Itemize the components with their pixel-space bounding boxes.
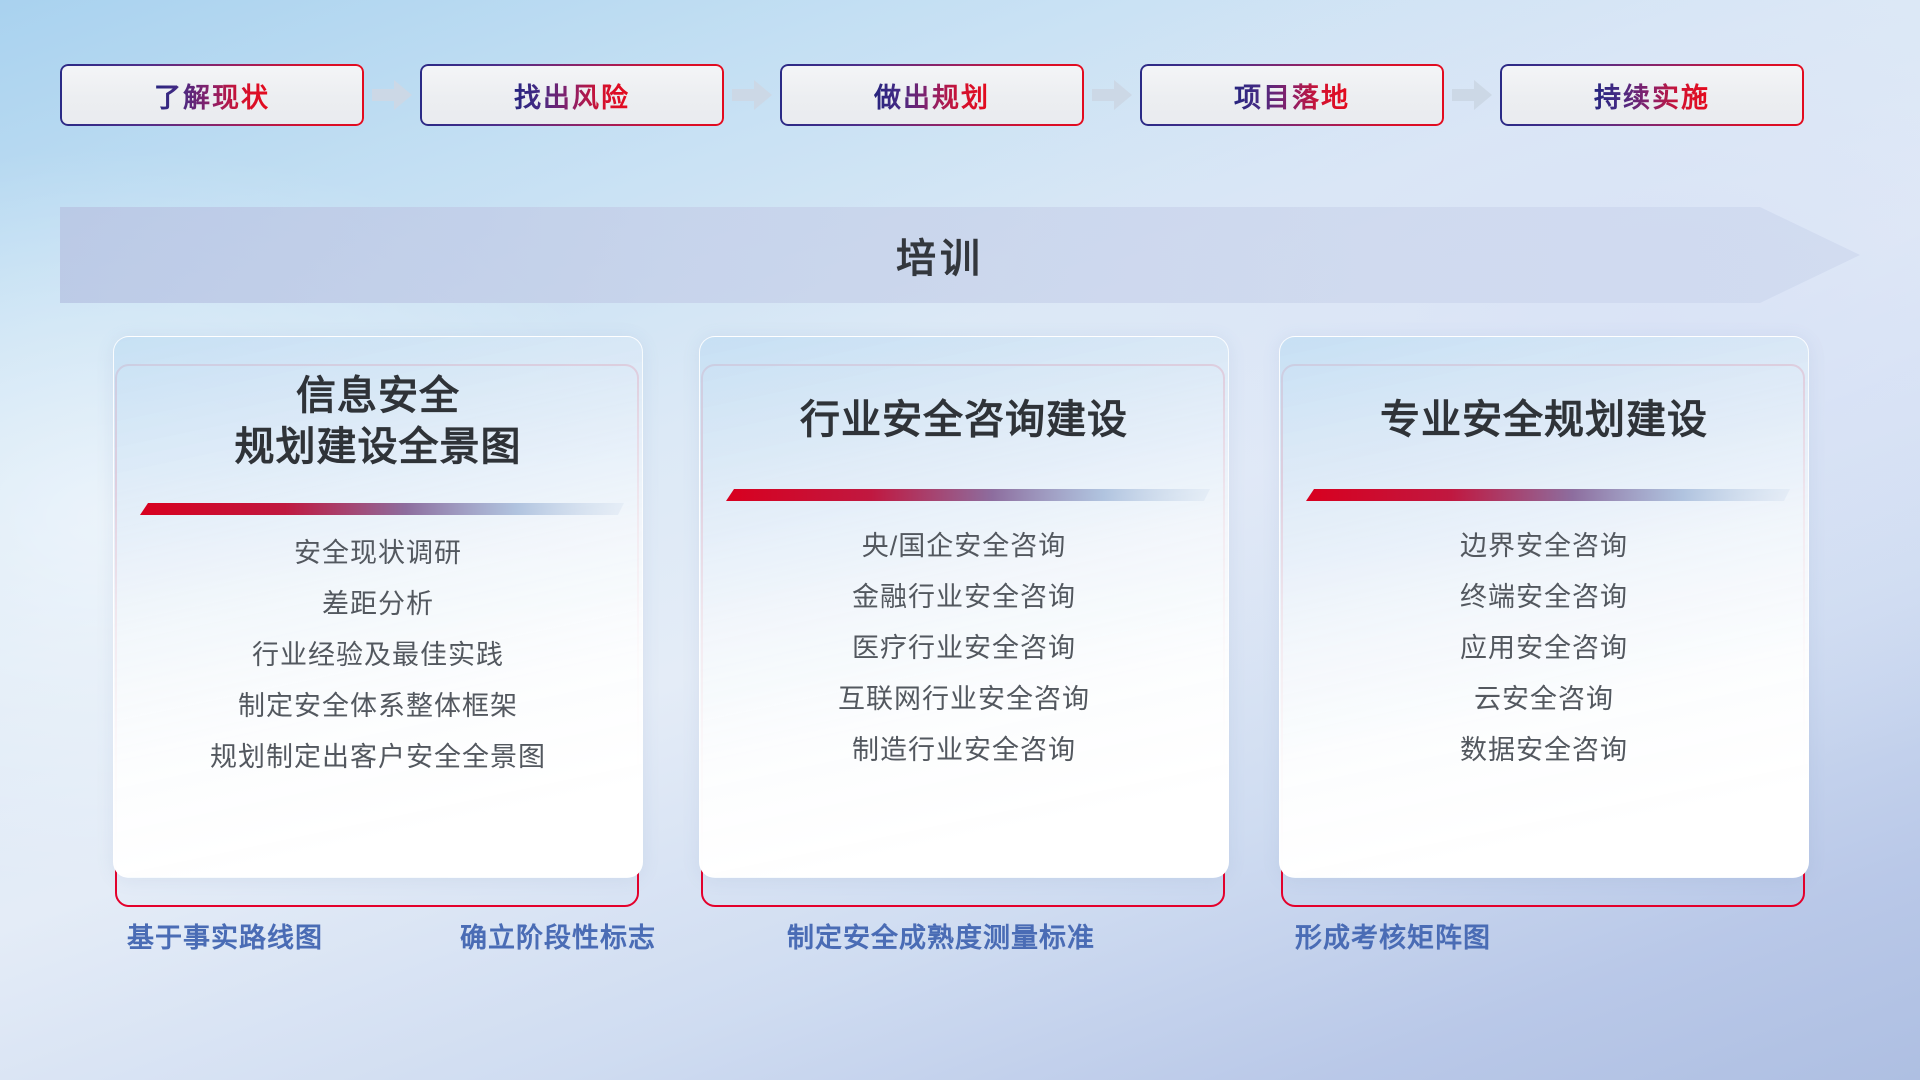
list-item: 央/国企安全咨询 xyxy=(700,533,1228,560)
card-divider xyxy=(718,485,1210,507)
list-item: 安全现状调研 xyxy=(114,540,642,567)
step-box-4[interactable]: 项目落地 xyxy=(1140,64,1444,126)
step-box-5[interactable]: 持续实施 xyxy=(1500,64,1804,126)
card-divider xyxy=(132,499,624,521)
step-label: 项目落地 xyxy=(1234,76,1350,115)
list-item: 云安全咨询 xyxy=(1280,686,1808,713)
cards-row: 信息安全 规划建设全景图 xyxy=(0,336,1920,876)
caption-1: 确立阶段性标志 xyxy=(460,916,656,955)
list-item: 行业经验及最佳实践 xyxy=(114,642,642,669)
card-divider xyxy=(1298,485,1790,507)
list-item: 互联网行业安全咨询 xyxy=(700,686,1228,713)
step-box-1[interactable]: 了解现状 xyxy=(60,64,364,126)
captions-row: 基于事实路线图 确立阶段性标志 制定安全成熟度测量标准 形成考核矩阵图 xyxy=(0,916,1920,960)
list-item: 医疗行业安全咨询 xyxy=(700,635,1228,662)
card-panel: 信息安全 规划建设全景图 xyxy=(113,336,643,878)
arrow-right-icon xyxy=(364,64,420,126)
list-item: 差距分析 xyxy=(114,591,642,618)
step-label: 持续实施 xyxy=(1594,76,1710,115)
banner-title: 培训 xyxy=(60,207,1820,303)
list-item: 数据安全咨询 xyxy=(1280,737,1808,764)
process-steps-row: 了解现状 找出风险 做出规划 项目落地 xyxy=(60,64,1860,126)
slide-canvas: 了解现状 找出风险 做出规划 项目落地 xyxy=(0,0,1920,1080)
step-box-2[interactable]: 找出风险 xyxy=(420,64,724,126)
arrow-right-icon xyxy=(1084,64,1140,126)
list-item: 制定安全体系整体框架 xyxy=(114,693,642,720)
caption-3: 形成考核矩阵图 xyxy=(1295,916,1491,955)
card-title: 信息安全 规划建设全景图 xyxy=(114,371,642,473)
card-title: 行业安全咨询建设 xyxy=(700,395,1228,446)
caption-0: 基于事实路线图 xyxy=(127,916,323,955)
step-label: 找出风险 xyxy=(514,76,630,115)
card-1[interactable]: 信息安全 规划建设全景图 xyxy=(113,336,643,878)
card-list: 安全现状调研 差距分析 行业经验及最佳实践 制定安全体系整体框架 规划制定出客户… xyxy=(114,540,642,795)
card-2[interactable]: 行业安全咨询建设 xyxy=(699,336,1229,878)
card-list: 边界安全咨询 终端安全咨询 应用安全咨询 云安全咨询 数据安全咨询 xyxy=(1280,533,1808,788)
list-item: 边界安全咨询 xyxy=(1280,533,1808,560)
list-item: 制造行业安全咨询 xyxy=(700,737,1228,764)
step-box-3[interactable]: 做出规划 xyxy=(780,64,1084,126)
card-3[interactable]: 专业安全规划建设 xyxy=(1279,336,1809,878)
caption-2: 制定安全成熟度测量标准 xyxy=(787,916,1095,955)
step-label: 了解现状 xyxy=(154,76,270,115)
training-banner: 培训 xyxy=(60,207,1860,303)
card-title: 专业安全规划建设 xyxy=(1280,395,1808,446)
list-item: 终端安全咨询 xyxy=(1280,584,1808,611)
list-item: 应用安全咨询 xyxy=(1280,635,1808,662)
step-label: 做出规划 xyxy=(874,76,990,115)
arrow-right-icon xyxy=(1444,64,1500,126)
list-item: 金融行业安全咨询 xyxy=(700,584,1228,611)
card-list: 央/国企安全咨询 金融行业安全咨询 医疗行业安全咨询 互联网行业安全咨询 制造行… xyxy=(700,533,1228,788)
card-panel: 专业安全规划建设 xyxy=(1279,336,1809,878)
list-item: 规划制定出客户安全全景图 xyxy=(114,744,642,771)
arrow-right-icon xyxy=(724,64,780,126)
card-panel: 行业安全咨询建设 xyxy=(699,336,1229,878)
